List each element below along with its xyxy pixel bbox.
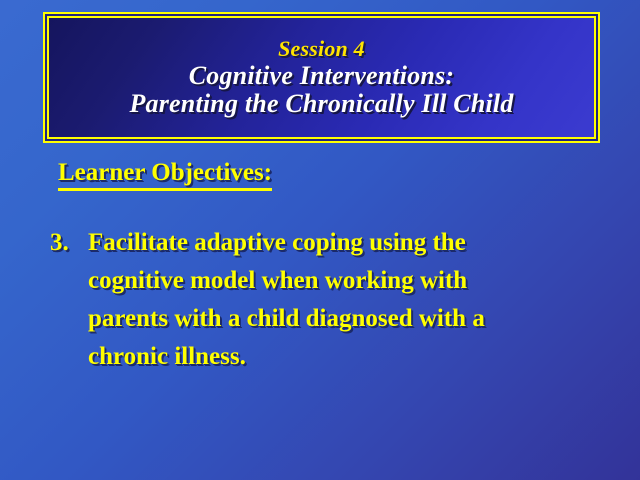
list-item-text: Facilitate adaptive coping using the cog… bbox=[88, 224, 610, 376]
list-item-line: parents with a child diagnosed with a bbox=[88, 300, 610, 338]
list-item: 3. Facilitate adaptive coping using the … bbox=[50, 224, 610, 376]
title-box: Session 4 Cognitive Interventions: Paren… bbox=[43, 12, 600, 143]
list-item-line: Facilitate adaptive coping using the bbox=[88, 224, 610, 262]
title-box-inner: Session 4 Cognitive Interventions: Paren… bbox=[47, 16, 596, 139]
list-item-line: cognitive model when working with bbox=[88, 262, 610, 300]
learner-objectives-heading: Learner Objectives: bbox=[58, 159, 272, 191]
objectives-list: 3. Facilitate adaptive coping using the … bbox=[50, 224, 610, 376]
title-session-label: Session 4 bbox=[278, 37, 365, 60]
title-heading-line-1: Cognitive Interventions: bbox=[189, 62, 455, 90]
title-heading-line-2: Parenting the Chronically Ill Child bbox=[129, 90, 513, 118]
list-item-line: chronic illness. bbox=[88, 338, 610, 376]
list-item-marker: 3. bbox=[50, 224, 88, 262]
presentation-slide: Session 4 Cognitive Interventions: Paren… bbox=[0, 0, 640, 480]
